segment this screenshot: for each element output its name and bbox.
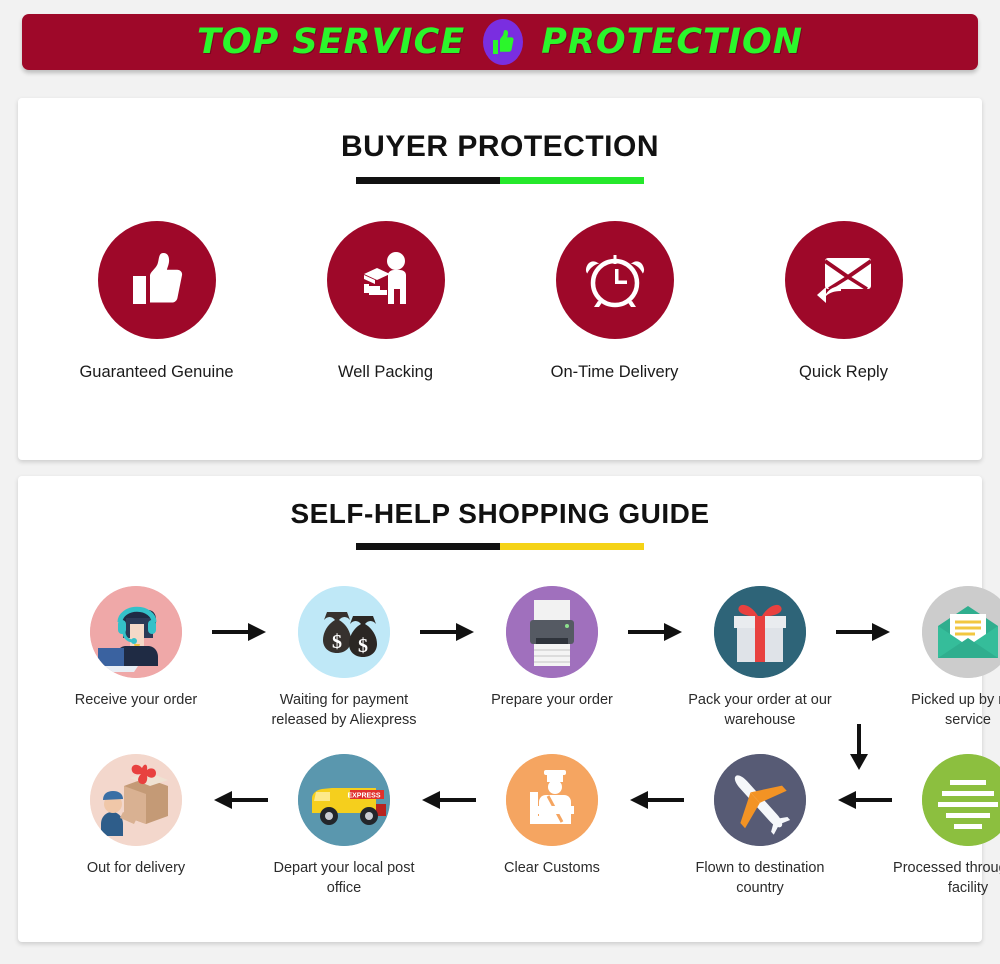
guide-step-label: Prepare your order bbox=[491, 691, 613, 711]
envelope-reply-icon bbox=[785, 221, 903, 339]
airplane-icon bbox=[714, 754, 806, 846]
svg-text:$: $ bbox=[332, 631, 342, 653]
sort-facility-icon bbox=[922, 754, 1000, 846]
shopping-guide-row-1: Receive your order $ $ Waiting for payme… bbox=[18, 586, 982, 730]
shopping-guide-row-2: Out for delivery EXPRESS bbox=[18, 754, 982, 898]
guide-step-label: Picked up by mail service bbox=[892, 691, 1000, 730]
promo-page: TOP SERVICE PROTECTION BUYER PROTECTION bbox=[0, 0, 1000, 964]
guide-step: Receive your order bbox=[60, 586, 212, 711]
guide-step-label: Flown to destination country bbox=[684, 859, 836, 898]
guide-step: Picked up by mail service bbox=[892, 586, 1000, 730]
buyer-protection-item-label: On-Time Delivery bbox=[551, 363, 679, 382]
buyer-protection-card: BUYER PROTECTION Guaranteed Genuine bbox=[18, 98, 982, 460]
buyer-protection-item: On-Time Delivery bbox=[500, 221, 729, 382]
guide-step: $ $ Waiting for payment released by Alie… bbox=[268, 586, 420, 730]
guide-step-label: Waiting for payment released by Aliexpre… bbox=[268, 691, 420, 730]
flow-arrow-left-icon bbox=[628, 754, 684, 846]
guide-step-label: Clear Customs bbox=[504, 859, 600, 879]
rule-right-half bbox=[500, 543, 644, 550]
buyer-protection-items: Guaranteed Genuine Well Packing bbox=[18, 221, 982, 382]
buyer-protection-title: BUYER PROTECTION bbox=[18, 130, 982, 164]
buyer-protection-item-label: Guaranteed Genuine bbox=[79, 363, 233, 382]
svg-text:EXPRESS: EXPRESS bbox=[347, 793, 380, 800]
buyer-protection-item-label: Well Packing bbox=[338, 363, 433, 382]
buyer-protection-item: Guaranteed Genuine bbox=[42, 221, 271, 382]
guide-step-label: Pack your order at our warehouse bbox=[684, 691, 836, 730]
printer-icon bbox=[506, 586, 598, 678]
guide-step: Clear Customs bbox=[476, 754, 628, 879]
buyer-protection-item: Quick Reply bbox=[729, 221, 958, 382]
flow-arrow-right-icon bbox=[420, 586, 476, 678]
buyer-protection-item: Well Packing bbox=[271, 221, 500, 382]
alarm-clock-icon bbox=[556, 221, 674, 339]
guide-step: Prepare your order bbox=[476, 586, 628, 711]
open-envelope-icon bbox=[922, 586, 1000, 678]
guide-step: Flown to destination country bbox=[684, 754, 836, 898]
shopping-guide-rule bbox=[356, 543, 644, 550]
customs-officer-icon bbox=[506, 754, 598, 846]
gift-box-icon bbox=[714, 586, 806, 678]
thumbs-up-icon bbox=[483, 19, 523, 65]
thumbs-up-icon bbox=[98, 221, 216, 339]
guide-step: Pack your order at our warehouse bbox=[684, 586, 836, 730]
shopping-guide-title: SELF-HELP SHOPPING GUIDE bbox=[18, 498, 982, 530]
buyer-protection-item-label: Quick Reply bbox=[799, 363, 888, 382]
flow-arrow-left-icon bbox=[212, 754, 268, 846]
guide-step-label: Receive your order bbox=[75, 691, 198, 711]
buyer-protection-rule bbox=[356, 177, 644, 184]
rule-left-half bbox=[356, 177, 500, 184]
rule-right-half bbox=[500, 177, 644, 184]
package-handover-icon bbox=[327, 221, 445, 339]
guide-step: EXPRESS Depart your local post office bbox=[268, 754, 420, 898]
flow-arrow-left-icon bbox=[420, 754, 476, 846]
banner-right-text: PROTECTION bbox=[541, 22, 803, 62]
flow-arrow-right-icon bbox=[628, 586, 684, 678]
banner-left-text: TOP SERVICE bbox=[197, 22, 465, 62]
rule-left-half bbox=[356, 543, 500, 550]
guide-step-label: Out for delivery bbox=[87, 859, 185, 879]
courier-parcel-icon bbox=[90, 754, 182, 846]
support-agent-icon bbox=[90, 586, 182, 678]
flow-arrow-right-icon bbox=[212, 586, 268, 678]
flow-arrow-right-icon bbox=[836, 586, 892, 678]
guide-step-label: Depart your local post office bbox=[268, 859, 420, 898]
flow-arrow-left-icon bbox=[836, 754, 892, 846]
guide-step-label: Processed through sort facility bbox=[892, 859, 1000, 898]
shopping-guide-card: SELF-HELP SHOPPING GUIDE bbox=[18, 476, 982, 942]
svg-text:$: $ bbox=[358, 635, 368, 657]
guide-step: Processed through sort facility bbox=[892, 754, 1000, 898]
money-bags-icon: $ $ bbox=[298, 586, 390, 678]
guide-step: Out for delivery bbox=[60, 754, 212, 879]
delivery-van-icon: EXPRESS bbox=[298, 754, 390, 846]
top-service-banner: TOP SERVICE PROTECTION bbox=[22, 14, 978, 70]
